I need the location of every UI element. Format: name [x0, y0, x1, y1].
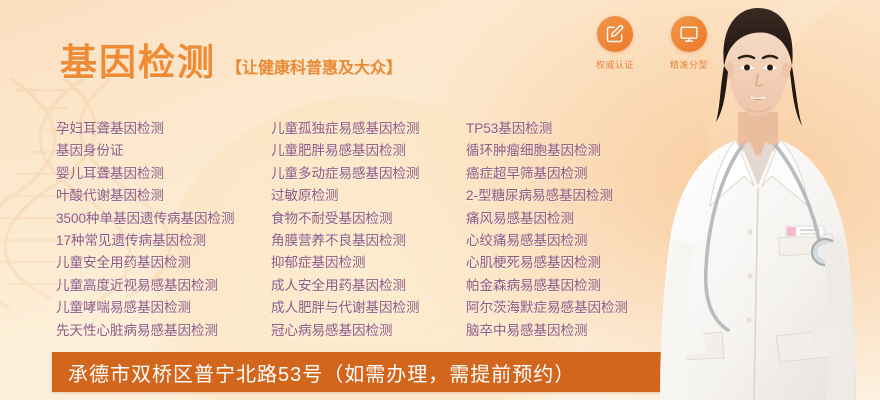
list-item[interactable]: 孕妇耳聋基因检测 [56, 118, 271, 140]
list-item[interactable]: 儿童多动症易感基因检测 [271, 163, 466, 185]
list-item[interactable]: 脑卒中易感基因检测 [466, 320, 696, 342]
list-item[interactable]: 心肌梗死易感基因检测 [466, 252, 696, 274]
list-item[interactable]: 2-型糖尿病易感基因检测 [466, 185, 696, 207]
promo-poster: 基因检测 【让健康科普惠及大众】 权威认证 精准分型 [0, 0, 880, 400]
document-icon [745, 16, 781, 52]
title-block: 基因检测 【让健康科普惠及大众】 [60, 44, 402, 81]
badge-group: 权威认证 精准分型 轻松自检 [590, 16, 788, 71]
list-item[interactable]: 儿童安全用药基因检测 [56, 252, 271, 274]
list-item[interactable]: 成人肥胖与代谢基因检测 [271, 297, 466, 319]
list-item[interactable]: 痛风易感基因检测 [466, 208, 696, 230]
list-item[interactable]: 3500种单基因遗传病基因检测 [56, 208, 271, 230]
list-item[interactable]: 冠心病易感基因检测 [271, 320, 466, 342]
page-title: 基因检测 [60, 44, 216, 81]
list-item[interactable]: 过敏原检测 [271, 185, 466, 207]
page-subtitle: 【让健康科普惠及大众】 [226, 54, 402, 81]
list-item[interactable]: 循环肿瘤细胞基因检测 [466, 140, 696, 162]
list-item[interactable]: 角膜营养不良基因检测 [271, 230, 466, 252]
service-column-2: 儿童孤独症易感基因检测 儿童肥胖易感基因检测 儿童多动症易感基因检测 过敏原检测… [271, 118, 466, 342]
list-item[interactable]: 17种常见遗传病基因检测 [56, 230, 271, 252]
list-item[interactable]: TP53基因检测 [466, 118, 696, 140]
service-list: 孕妇耳聋基因检测 基因身份证 婴儿耳聋基因检测 叶酸代谢基因检测 3500种单基… [56, 118, 696, 342]
service-column-3: TP53基因检测 循环肿瘤细胞基因检测 癌症超早筛基因检测 2-型糖尿病易感基因… [466, 118, 696, 342]
badge-label: 权威认证 [596, 58, 634, 71]
list-item[interactable]: 基因身份证 [56, 140, 271, 162]
list-item[interactable]: 先天性心脏病易感基因检测 [56, 320, 271, 342]
list-item[interactable]: 成人安全用药基因检测 [271, 275, 466, 297]
monitor-icon [671, 16, 707, 52]
list-item[interactable]: 儿童哮喘易感基因检测 [56, 297, 271, 319]
address-text: 承德市双桥区普宁北路53号（如需办理，需提前预约） [68, 358, 575, 387]
list-item[interactable]: 心绞痛易感基因检测 [466, 230, 696, 252]
list-item[interactable]: 抑郁症基因检测 [271, 252, 466, 274]
badge-label: 精准分型 [670, 58, 708, 71]
badge-easy-self-check[interactable]: 轻松自检 [738, 16, 788, 71]
list-item[interactable]: 儿童孤独症易感基因检测 [271, 118, 466, 140]
badge-precise-typing[interactable]: 精准分型 [664, 16, 714, 71]
list-item[interactable]: 叶酸代谢基因检测 [56, 185, 271, 207]
address-banner: 承德市双桥区普宁北路53号（如需办理，需提前预约） [52, 352, 827, 392]
list-item[interactable]: 食物不耐受基因检测 [271, 208, 466, 230]
list-item[interactable]: 婴儿耳聋基因检测 [56, 163, 271, 185]
list-item[interactable]: 癌症超早筛基因检测 [466, 163, 696, 185]
list-item[interactable]: 儿童肥胖易感基因检测 [271, 140, 466, 162]
list-item[interactable]: 儿童高度近视易感基因检测 [56, 275, 271, 297]
edit-square-icon [597, 16, 633, 52]
list-item[interactable]: 帕金森病易感基因检测 [466, 275, 696, 297]
badge-label: 轻松自检 [744, 58, 782, 71]
service-column-1: 孕妇耳聋基因检测 基因身份证 婴儿耳聋基因检测 叶酸代谢基因检测 3500种单基… [56, 118, 271, 342]
badge-authority-certification[interactable]: 权威认证 [590, 16, 640, 71]
list-item[interactable]: 阿尔茨海默症易感基因检测 [466, 297, 696, 319]
